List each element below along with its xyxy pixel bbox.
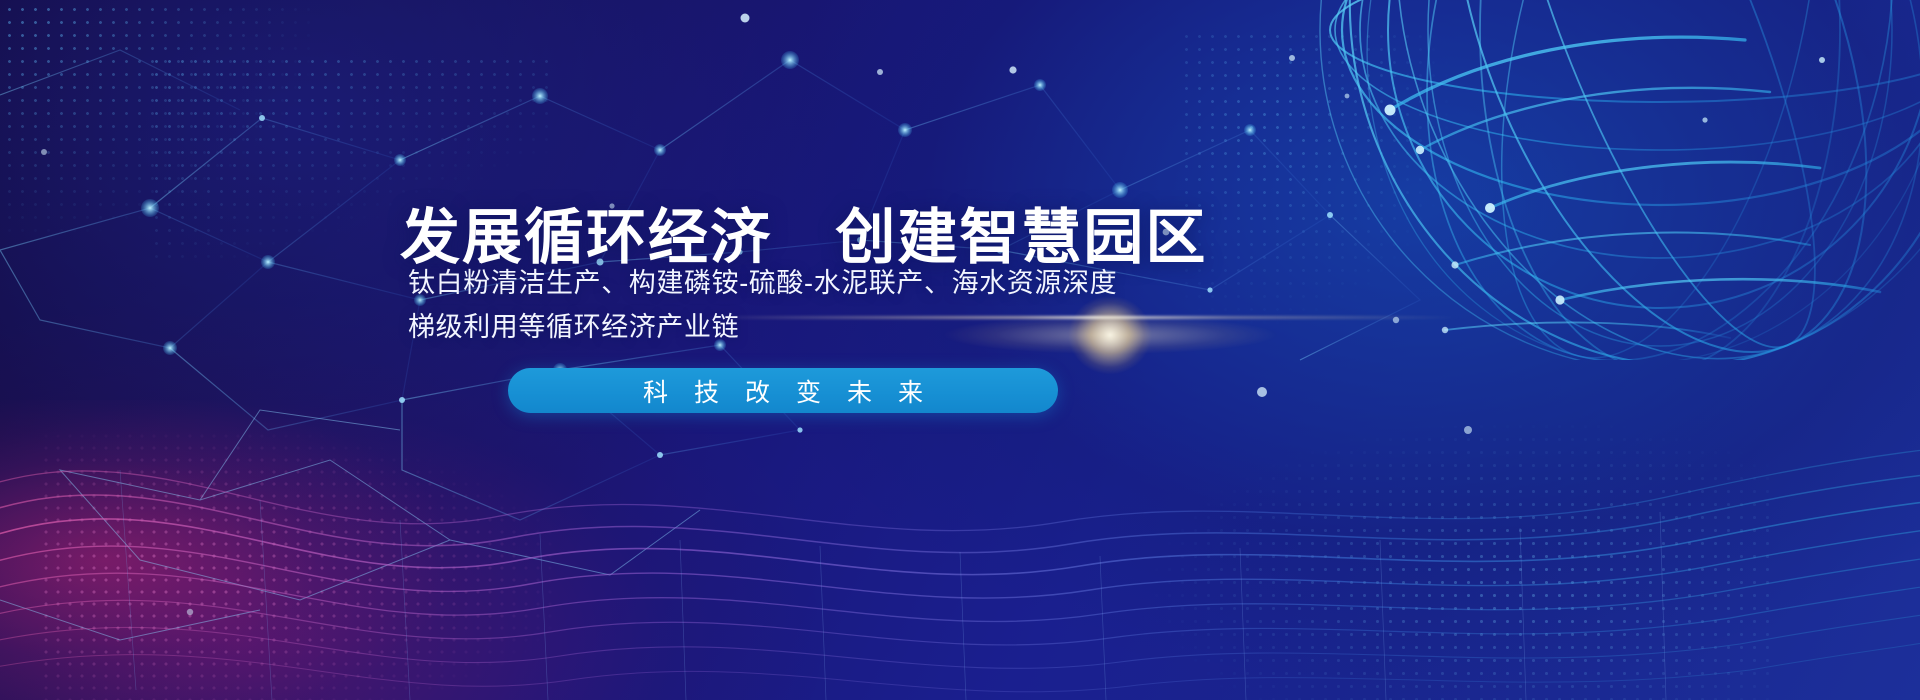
subtitle-line-1: 钛白粉清洁生产、构建磷铵-硫酸-水泥联产、海水资源深度 [408,262,1117,306]
subtitle-line-2: 梯级利用等循环经济产业链 [408,306,1117,350]
hero-banner: 发展循环经济 创建智慧园区 钛白粉清洁生产、构建磷铵-硫酸-水泥联产、海水资源深… [0,0,1920,700]
cta-button[interactable]: 科技改变未来 [508,368,1058,413]
page-title: 发展循环经济 创建智慧园区 [400,206,1207,269]
hero-content: 发展循环经济 创建智慧园区 钛白粉清洁生产、构建磷铵-硫酸-水泥联产、海水资源深… [0,0,1920,700]
subtitle: 钛白粉清洁生产、构建磷铵-硫酸-水泥联产、海水资源深度 梯级利用等循环经济产业链 [408,262,1117,349]
cta-button-label: 科技改变未来 [617,373,949,409]
